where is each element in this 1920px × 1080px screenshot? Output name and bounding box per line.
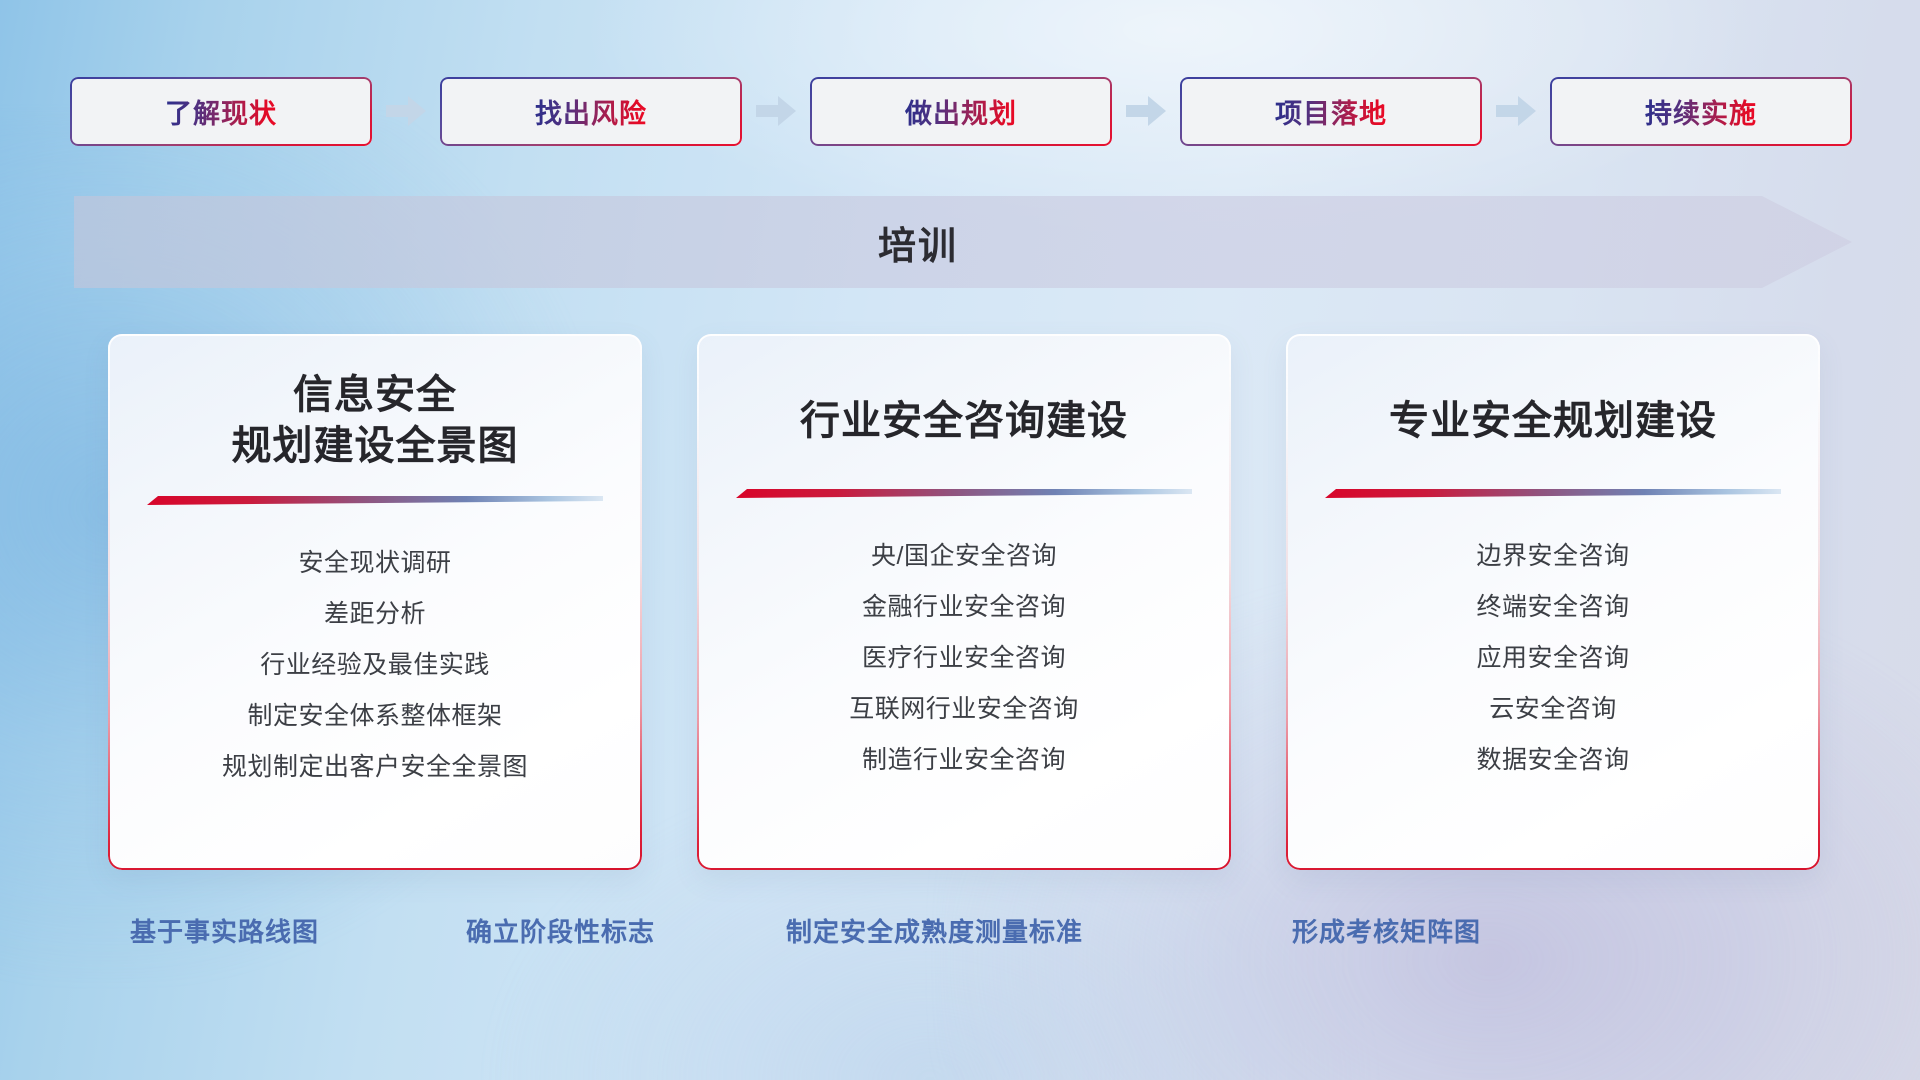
list-item: 边界安全咨询	[1476, 531, 1629, 581]
footer-label-0: 基于事实路线图	[130, 912, 319, 949]
card-row: 信息安全 规划建设全景图	[108, 334, 1820, 870]
process-step-4[interactable]: 持续实施	[1550, 77, 1852, 146]
footer-label-2: 制定安全成熟度测量标准	[786, 912, 1083, 949]
list-item: 差距分析	[324, 589, 426, 639]
card-title-line1: 专业安全规划建设	[1389, 396, 1717, 447]
list-item: 金融行业安全咨询	[862, 582, 1066, 632]
card-title: 行业安全咨询建设	[800, 396, 1128, 447]
banner-title: 培训	[74, 196, 1852, 288]
card-professional-security-planning[interactable]: 专业安全规划建设	[1286, 334, 1820, 870]
card-title-line1: 信息安全	[232, 370, 519, 421]
right-arrow-icon	[1496, 96, 1536, 126]
process-step-label: 做出规划	[905, 92, 1017, 131]
card-divider	[1325, 487, 1781, 501]
training-banner: 培训	[74, 196, 1852, 288]
list-item: 制造行业安全咨询	[862, 735, 1066, 785]
right-arrow-icon	[756, 96, 796, 126]
list-item: 数据安全咨询	[1476, 735, 1629, 785]
footer-label-3: 形成考核矩阵图	[1292, 912, 1481, 949]
process-step-2[interactable]: 做出规划	[810, 77, 1112, 146]
process-step-label: 项目落地	[1275, 92, 1387, 131]
card-title-line2: 规划建设全景图	[232, 421, 519, 472]
list-item: 安全现状调研	[298, 538, 451, 588]
list-item: 央/国企安全咨询	[871, 531, 1057, 581]
process-step-0[interactable]: 了解现状	[70, 77, 372, 146]
card-item-list: 央/国企安全咨询 金融行业安全咨询 医疗行业安全咨询 互联网行业安全咨询 制造行…	[727, 531, 1201, 785]
process-step-label: 持续实施	[1645, 92, 1757, 131]
process-step-3[interactable]: 项目落地	[1180, 77, 1482, 146]
list-item: 制定安全体系整体框架	[247, 691, 502, 741]
right-arrow-icon	[386, 96, 426, 126]
slide-canvas: 了解现状 找出风险 做出规划 项目落地	[0, 0, 1920, 1080]
card-item-list: 安全现状调研 差距分析 行业经验及最佳实践 制定安全体系整体框架 规划制定出客户…	[138, 538, 612, 792]
footer-label-1: 确立阶段性标志	[466, 912, 655, 949]
right-arrow-icon	[1126, 96, 1166, 126]
list-item: 互联网行业安全咨询	[849, 684, 1079, 734]
footer-label-row: 基于事实路线图 确立阶段性标志 制定安全成熟度测量标准 形成考核矩阵图	[0, 912, 1920, 962]
list-item: 终端安全咨询	[1476, 582, 1629, 632]
list-item: 行业经验及最佳实践	[260, 640, 490, 690]
card-item-list: 边界安全咨询 终端安全咨询 应用安全咨询 云安全咨询 数据安全咨询	[1316, 531, 1790, 785]
list-item: 云安全咨询	[1489, 684, 1617, 734]
card-title: 信息安全 规划建设全景图	[232, 370, 519, 472]
card-industry-security-consulting[interactable]: 行业安全咨询建设	[697, 334, 1231, 870]
process-step-row: 了解现状 找出风险 做出规划 项目落地	[70, 76, 1852, 146]
list-item: 医疗行业安全咨询	[862, 633, 1066, 683]
list-item: 应用安全咨询	[1476, 633, 1629, 683]
card-info-security-blueprint[interactable]: 信息安全 规划建设全景图	[108, 334, 642, 870]
process-step-label: 了解现状	[165, 92, 277, 131]
process-step-1[interactable]: 找出风险	[440, 77, 742, 146]
list-item: 规划制定出客户安全全景图	[222, 742, 528, 792]
card-divider	[147, 494, 603, 508]
process-step-label: 找出风险	[535, 92, 647, 131]
card-title: 专业安全规划建设	[1389, 396, 1717, 447]
card-title-line1: 行业安全咨询建设	[800, 396, 1128, 447]
card-divider	[736, 487, 1192, 501]
